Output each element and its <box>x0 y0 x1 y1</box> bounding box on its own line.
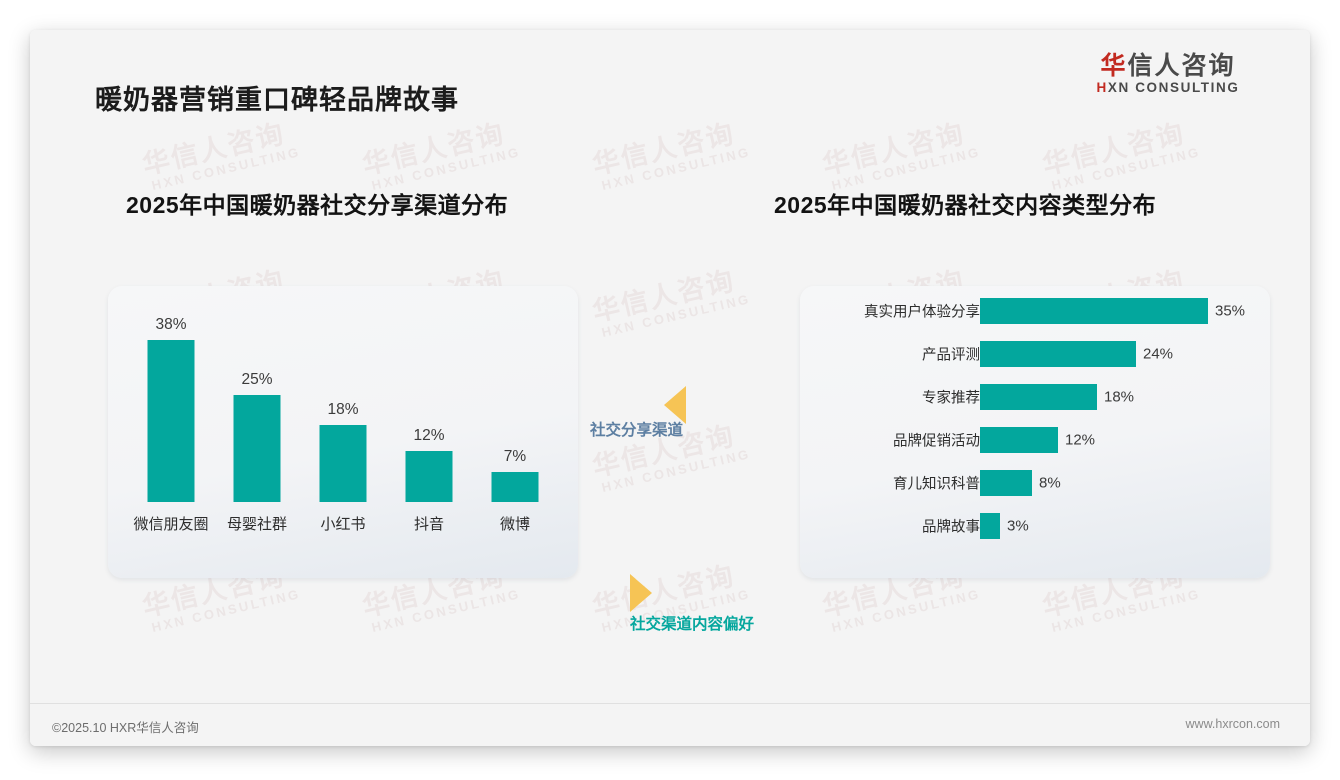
bar[interactable] <box>980 384 1097 410</box>
logo-en-highlight: H <box>1097 80 1108 95</box>
bar-column[interactable]: 7%微博 <box>472 304 558 536</box>
logo-en-rest: XN CONSULTING <box>1108 80 1240 95</box>
slide-body: 华信人咨询HXN CONSULTING华信人咨询HXN CONSULTING华信… <box>30 124 1310 704</box>
bar-row[interactable]: 品牌促销活动12% <box>800 427 1270 453</box>
bar-value-label: 25% <box>241 371 272 389</box>
slide-footer: ©2025.10 HXR华信人咨询 www.hxrcon.com <box>30 703 1310 746</box>
slide-header: 暖奶器营销重口碑轻品牌故事 华信人咨询 HXN CONSULTING <box>30 30 1310 125</box>
bar[interactable] <box>234 395 281 502</box>
bar[interactable] <box>980 513 1000 539</box>
right-chart-title: 2025年中国暖奶器社交内容类型分布 <box>774 186 1156 220</box>
bar[interactable] <box>980 427 1058 453</box>
bar-column[interactable]: 12%抖音 <box>386 304 472 536</box>
bar-value-label: 35% <box>1215 303 1245 320</box>
connector-label-2: 社交渠道内容偏好 <box>630 612 754 634</box>
watermark: 华信人咨询HXN CONSULTING <box>1040 117 1202 195</box>
watermark-line-en: HXN CONSULTING <box>600 446 752 495</box>
bar-category-label: 母婴社群 <box>227 513 287 534</box>
watermark-line-en: HXN CONSULTING <box>600 291 752 340</box>
vertical-bar-chart: 38%微信朋友圈25%母婴社群18%小红书12%抖音7%微博 <box>128 304 558 536</box>
brand-logo: 华信人咨询 HXN CONSULTING <box>1068 52 1268 96</box>
watermark-line-cn: 华信人咨询 <box>820 117 979 180</box>
bar[interactable] <box>980 470 1032 496</box>
watermark-line-en: HXN CONSULTING <box>1050 586 1202 635</box>
slide: 暖奶器营销重口碑轻品牌故事 华信人咨询 HXN CONSULTING 华信人咨询… <box>30 30 1310 746</box>
watermark-line-en: HXN CONSULTING <box>830 586 982 635</box>
watermark-line-en: HXN CONSULTING <box>370 586 522 635</box>
bar-category-label: 小红书 <box>320 513 365 534</box>
bar-row[interactable]: 真实用户体验分享35% <box>800 298 1270 324</box>
bar-value-label: 38% <box>155 316 186 334</box>
bar-category-label: 育儿知识科普 <box>893 473 980 494</box>
bar-value-label: 8% <box>1039 475 1061 492</box>
logo-english: HXN CONSULTING <box>1068 80 1268 96</box>
horizontal-bar-chart: 真实用户体验分享35%产品评测24%专家推荐18%品牌促销活动12%育儿知识科普… <box>800 298 1270 568</box>
bar-category-label: 专家推荐 <box>922 387 980 408</box>
watermark-line-en: HXN CONSULTING <box>600 144 752 193</box>
left-chart-card: 38%微信朋友圈25%母婴社群18%小红书12%抖音7%微博 <box>108 286 578 578</box>
bar-value-label: 12% <box>1065 432 1095 449</box>
bar-category-label: 品牌促销活动 <box>893 430 980 451</box>
copyright-text: ©2025.10 HXR华信人咨询 <box>52 717 199 736</box>
watermark: 华信人咨询HXN CONSULTING <box>820 117 982 195</box>
bar-category-label: 微博 <box>500 513 530 534</box>
logo-cn-rest: 信人咨询 <box>1128 52 1236 80</box>
bar-value-label: 18% <box>327 401 358 419</box>
triangle-right-icon <box>630 574 652 612</box>
bar-value-label: 7% <box>504 448 526 466</box>
watermark: 华信人咨询HXN CONSULTING <box>140 117 302 195</box>
bar-row[interactable]: 产品评测24% <box>800 341 1270 367</box>
watermark-line-cn: 华信人咨询 <box>1040 117 1199 180</box>
logo-cn-highlight: 华 <box>1100 52 1127 80</box>
bar-value-label: 3% <box>1007 518 1029 535</box>
bar-value-label: 18% <box>1104 389 1134 406</box>
watermark: 华信人咨询HXN CONSULTING <box>590 264 752 342</box>
bar[interactable] <box>492 472 539 502</box>
watermark-line-cn: 华信人咨询 <box>140 117 299 180</box>
bar-column[interactable]: 25%母婴社群 <box>214 304 300 536</box>
right-chart-card: 真实用户体验分享35%产品评测24%专家推荐18%品牌促销活动12%育儿知识科普… <box>800 286 1270 578</box>
watermark-line-cn: 华信人咨询 <box>360 117 519 180</box>
bar-value-label: 24% <box>1143 346 1173 363</box>
watermark: 华信人咨询HXN CONSULTING <box>590 117 752 195</box>
watermark-line-cn: 华信人咨询 <box>590 117 749 180</box>
bar-category-label: 微信朋友圈 <box>133 513 208 534</box>
page-title: 暖奶器营销重口碑轻品牌故事 <box>95 78 459 117</box>
connector-label-1: 社交分享渠道 <box>590 418 683 440</box>
bar[interactable] <box>406 451 453 502</box>
bar-column[interactable]: 38%微信朋友圈 <box>128 304 214 536</box>
bar[interactable] <box>320 425 367 502</box>
website-link[interactable]: www.hxrcon.com <box>1186 717 1280 731</box>
bar[interactable] <box>980 298 1208 324</box>
left-chart-title: 2025年中国暖奶器社交分享渠道分布 <box>126 186 508 220</box>
bar-value-label: 12% <box>413 427 444 445</box>
bar-row[interactable]: 专家推荐18% <box>800 384 1270 410</box>
bar-category-label: 品牌故事 <box>922 516 980 537</box>
watermark: 华信人咨询HXN CONSULTING <box>360 117 522 195</box>
bar-category-label: 真实用户体验分享 <box>864 301 980 322</box>
bar-category-label: 产品评测 <box>922 344 980 365</box>
logo-chinese: 华信人咨询 <box>1068 52 1268 80</box>
watermark-line-cn: 华信人咨询 <box>590 264 749 327</box>
bar-row[interactable]: 育儿知识科普8% <box>800 470 1270 496</box>
bar[interactable] <box>148 340 195 502</box>
watermark-line-en: HXN CONSULTING <box>150 586 302 635</box>
bar[interactable] <box>980 341 1136 367</box>
bar-row[interactable]: 品牌故事3% <box>800 513 1270 539</box>
bar-category-label: 抖音 <box>414 513 444 534</box>
bar-column[interactable]: 18%小红书 <box>300 304 386 536</box>
